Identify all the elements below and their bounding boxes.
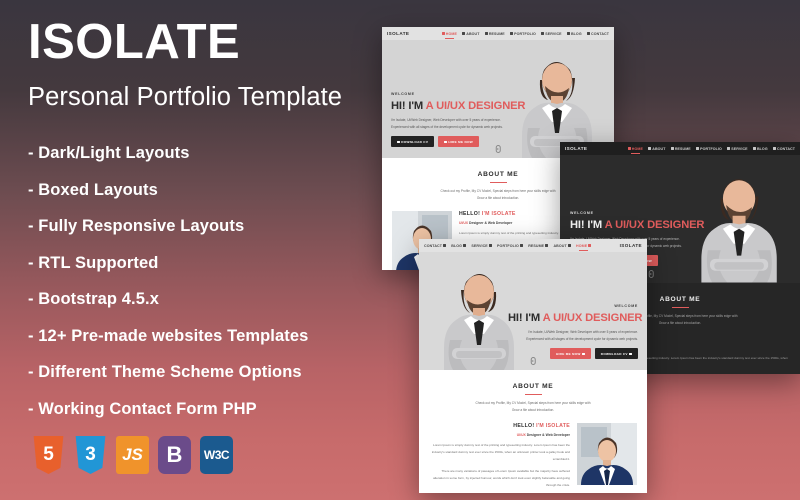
scroll-indicator-icon: [649, 270, 654, 278]
nav-item-blog[interactable]: BLOG: [567, 32, 582, 36]
site-topbar: ISOLATE HOME ABOUT RESUME PORTFOLIO SERV…: [382, 27, 614, 40]
hero-portrait-photo: [504, 40, 608, 158]
gear-icon: [727, 147, 730, 150]
home-icon: [442, 32, 445, 35]
handshake-icon: [444, 141, 447, 144]
download-icon: [397, 141, 400, 144]
rtl-layout-preview[interactable]: CONTACT BLOG SERVICE PORTFOLIO RESUME AB…: [419, 239, 647, 493]
hero-copy: WELCOME HI! I'M A UI/UX DESIGNER I'm Iso…: [508, 304, 638, 359]
nav-item-contact[interactable]: CONTACT: [424, 244, 446, 248]
hire-me-button[interactable]: HIRE ME NOW: [550, 348, 591, 359]
gear-icon: [541, 32, 544, 35]
bootstrap-badge-label: B: [158, 436, 191, 474]
pencil-icon: [463, 244, 466, 247]
nav-item-resume[interactable]: RESUME: [528, 244, 548, 248]
site-topbar: CONTACT BLOG SERVICE PORTFOLIO RESUME AB…: [419, 239, 647, 252]
feature-item: - Different Theme Scheme Options: [28, 363, 378, 382]
about-hello: HELLO! I'M ISOLATE: [429, 423, 570, 429]
nav-item-resume[interactable]: RESUME: [485, 32, 505, 36]
about-paragraph: Lorem Ipsum is simply dummy text of the …: [429, 442, 570, 463]
download-icon: [629, 353, 632, 356]
about-subtitle: Check out my Profile, My CV Model, Speci…: [429, 400, 637, 414]
download-cv-button[interactable]: DOWNLOAD CV: [595, 348, 638, 359]
hire-me-button[interactable]: HIRE ME NOW: [438, 136, 479, 147]
hero-copy: WELCOME HI! I'M A UI/UX DESIGNER I'm Iso…: [391, 92, 509, 147]
home-icon: [588, 244, 591, 247]
scroll-indicator-icon: [531, 357, 536, 365]
feature-item: - Working Contact Form PHP: [28, 400, 378, 419]
nav-item-portfolio[interactable]: PORTFOLIO: [497, 244, 523, 248]
bootstrap-icon: B: [158, 436, 191, 474]
about-divider: [672, 307, 689, 308]
nav-item-contact[interactable]: CONTACT: [773, 147, 795, 151]
mail-icon: [443, 244, 446, 247]
grid-icon: [696, 147, 699, 150]
nav-item-service[interactable]: SERVICE: [727, 147, 747, 151]
file-icon: [671, 147, 674, 150]
site-topbar: ISOLATE HOME ABOUT RESUME PORTFOLIO SERV…: [560, 142, 800, 155]
scroll-indicator-icon: [496, 145, 501, 153]
feature-item: - RTL Supported: [28, 254, 378, 273]
feature-item: - 12+ Pre-made websites Templates: [28, 327, 378, 346]
nav-item-service[interactable]: SERVICE: [471, 244, 491, 248]
hero-description: I'm Isolate, UI/Web Designer, Web Develo…: [508, 329, 638, 342]
feature-item: - Bootstrap 4.5.x: [28, 290, 378, 309]
html5-icon: 5: [32, 436, 65, 474]
user-icon: [568, 244, 571, 247]
hero-button-row: HIRE ME NOW DOWNLOAD CV: [508, 348, 638, 359]
hero-headline: HI! I'M A UI/UX DESIGNER: [391, 100, 509, 112]
pencil-icon: [567, 32, 570, 35]
site-logo: ISOLATE: [620, 243, 642, 248]
gear-icon: [489, 244, 492, 247]
about-body: HELLO! I'M ISOLATE UI/UX Designer & Web …: [429, 423, 637, 493]
javascript-badge-label: JS: [116, 436, 149, 474]
mail-icon: [773, 147, 776, 150]
site-nav: CONTACT BLOG SERVICE PORTFOLIO RESUME AB…: [424, 244, 591, 248]
mail-icon: [587, 32, 590, 35]
download-cv-button[interactable]: DOWNLOAD CV: [391, 136, 434, 147]
nav-item-blog[interactable]: BLOG: [451, 244, 466, 248]
nav-item-contact[interactable]: CONTACT: [587, 32, 609, 36]
nav-item-portfolio[interactable]: PORTFOLIO: [510, 32, 536, 36]
css3-icon: 3: [74, 436, 107, 474]
feature-item: - Fully Responsive Layouts: [28, 217, 378, 236]
nav-item-about[interactable]: ABOUT: [648, 147, 665, 151]
feature-item: - Boxed Layouts: [28, 181, 378, 200]
site-nav: HOME ABOUT RESUME PORTFOLIO SERVICE BLOG…: [628, 147, 795, 151]
hero-section: WELCOME HI! I'M A UI/UX DESIGNER I'm Iso…: [382, 40, 614, 158]
site-nav: HOME ABOUT RESUME PORTFOLIO SERVICE BLOG…: [442, 32, 609, 36]
about-title: ABOUT ME: [429, 383, 637, 390]
about-text: HELLO! I'M ISOLATE UI/UX Designer & Web …: [429, 423, 570, 493]
grid-icon: [510, 32, 513, 35]
promo-panel: ISOLATE Personal Portfolio Template - Da…: [28, 18, 378, 436]
w3c-icon: W3C: [200, 436, 233, 474]
about-divider: [490, 182, 507, 183]
page-title: ISOLATE: [28, 18, 378, 67]
file-icon: [545, 244, 548, 247]
nav-item-about[interactable]: ABOUT: [462, 32, 479, 36]
user-icon: [462, 32, 465, 35]
nav-item-home[interactable]: HOME: [576, 244, 591, 248]
handshake-icon: [582, 353, 585, 356]
about-portrait-photo: [577, 423, 637, 485]
nav-item-portfolio[interactable]: PORTFOLIO: [696, 147, 722, 151]
nav-item-home[interactable]: HOME: [442, 32, 457, 36]
html5-badge-label: 5: [32, 436, 65, 474]
nav-item-service[interactable]: SERVICE: [541, 32, 561, 36]
nav-item-about[interactable]: ABOUT: [553, 244, 570, 248]
grid-icon: [520, 244, 523, 247]
hero-eyebrow: WELCOME: [570, 211, 698, 215]
site-logo: ISOLATE: [387, 31, 409, 36]
technology-badge-row: 5 3 JS B W3C: [32, 436, 233, 474]
user-icon: [648, 147, 651, 150]
page-subtitle: Personal Portfolio Template: [28, 83, 378, 112]
hero-headline: HI! I'M A UI/UX DESIGNER: [570, 219, 698, 231]
javascript-icon: JS: [116, 436, 149, 474]
nav-item-blog[interactable]: BLOG: [753, 147, 768, 151]
hero-description: I'm Isolate, UI/Web Designer, Web Develo…: [391, 117, 509, 130]
hero-button-row: DOWNLOAD CV HIRE ME NOW: [391, 136, 509, 147]
w3c-badge-label: W3C: [200, 436, 233, 474]
file-icon: [485, 32, 488, 35]
feature-list: - Dark/Light Layouts - Boxed Layouts - F…: [28, 144, 378, 419]
hero-section: WELCOME HI! I'M A UI/UX DESIGNER I'm Iso…: [419, 252, 647, 370]
feature-item: - Dark/Light Layouts: [28, 144, 378, 163]
nav-item-resume[interactable]: RESUME: [671, 147, 691, 151]
home-icon: [628, 147, 631, 150]
nav-item-home[interactable]: HOME: [628, 147, 643, 151]
about-role: UI/UX Designer & Web Developer: [429, 433, 570, 437]
css3-badge-label: 3: [74, 436, 107, 474]
hero-headline: HI! I'M A UI/UX DESIGNER: [508, 312, 638, 324]
about-section: ABOUT ME Check out my Profile, My CV Mod…: [419, 370, 647, 493]
pencil-icon: [753, 147, 756, 150]
site-logo: ISOLATE: [565, 146, 587, 151]
hero-eyebrow: WELCOME: [508, 304, 638, 308]
about-divider: [525, 394, 542, 395]
hero-eyebrow: WELCOME: [391, 92, 509, 96]
about-paragraph: There are many variations of passages of…: [429, 468, 570, 489]
